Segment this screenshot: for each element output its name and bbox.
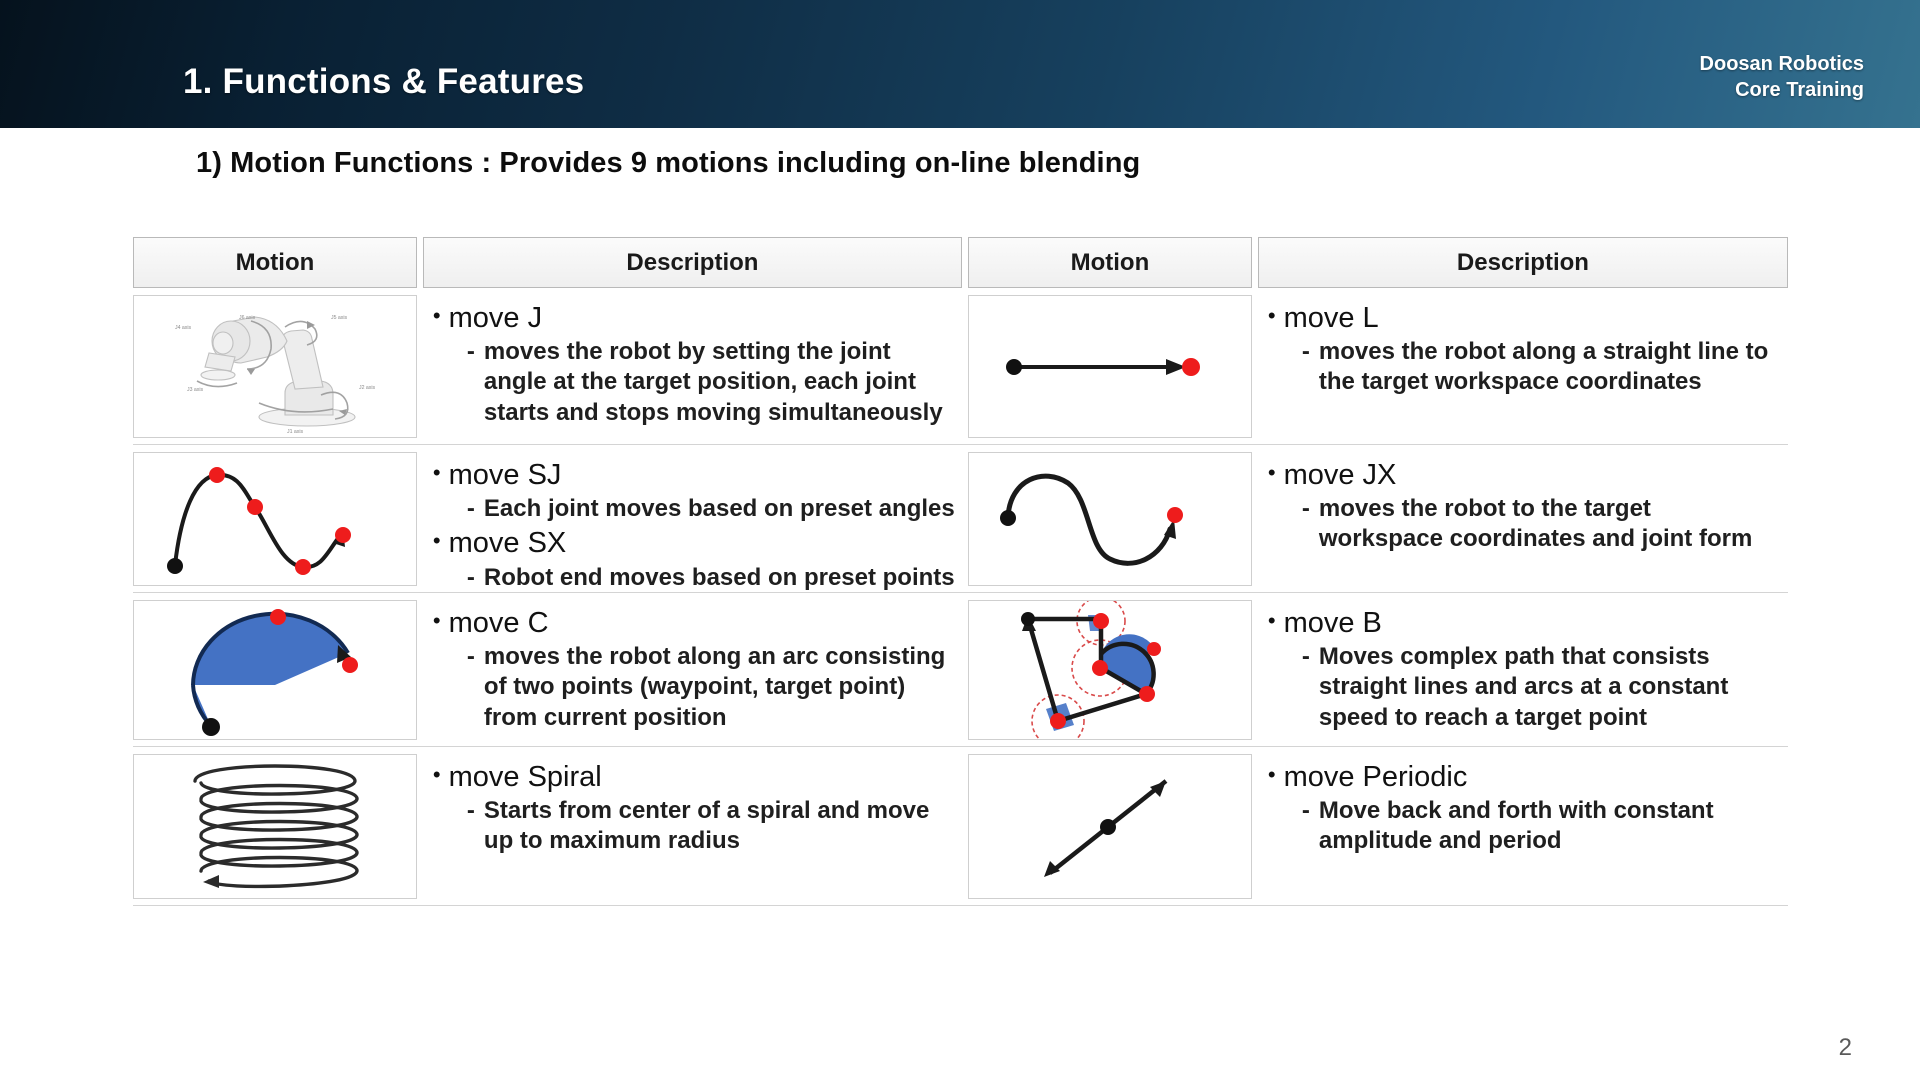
bullet-icon: • [1268, 606, 1276, 637]
slide: 1. Functions & Features Doosan Robotics … [0, 0, 1920, 1080]
motion-detail: - Each joint moves based on preset angle… [467, 494, 962, 524]
motion-title: • move Periodic [1268, 760, 1788, 794]
motion-name: move SJ [449, 458, 562, 492]
motion-detail: - Robot end moves based on preset points [467, 563, 962, 593]
motion-table: Motion Description Motion Description [133, 237, 1788, 906]
diagram-cell-arc [133, 600, 417, 740]
description-cell-move-spiral: • move Spiral - Starts from center of a … [423, 754, 962, 899]
bullet-icon: • [1268, 458, 1276, 489]
spline-waypoints-icon [135, 453, 415, 585]
robot-arm-joint-axes-icon: J5 axis J6 axis J4 axis J3 axis J2 axis … [135, 297, 415, 436]
motion-title: • move L [1268, 301, 1788, 335]
motion-detail: - Move back and forth with constant ampl… [1302, 796, 1788, 856]
bullet-icon: • [1268, 760, 1276, 791]
motion-name: move JX [1284, 458, 1397, 492]
description-cell-move-periodic: • move Periodic - Move back and forth wi… [1258, 754, 1788, 899]
brand-line-1: Doosan Robotics [1700, 52, 1864, 78]
dash-icon: - [1302, 337, 1310, 367]
diagram-cell-robot-arm: J5 axis J6 axis J4 axis J3 axis J2 axis … [133, 295, 417, 438]
motion-name: move B [1284, 606, 1382, 640]
straight-line-arrow-icon [970, 297, 1250, 436]
column-header-motion-2: Motion [968, 237, 1252, 288]
description-cell-move-j: • move J - moves the robot by setting th… [423, 295, 962, 438]
row-divider [133, 905, 1788, 906]
dash-icon: - [467, 337, 475, 367]
column-header-description-1: Description [423, 237, 962, 288]
bullet-icon: • [433, 301, 441, 332]
motion-name: move L [1284, 301, 1379, 335]
bullet-icon: • [433, 526, 441, 557]
row-divider [133, 444, 1788, 445]
motion-title: • move SX [433, 526, 962, 560]
table-row: • move Spiral - Starts from center of a … [133, 754, 1788, 899]
dash-icon: - [1302, 642, 1310, 672]
motion-name: move J [449, 301, 542, 335]
description-cell-move-l: • move L - moves the robot along a strai… [1258, 295, 1788, 438]
dash-icon: - [1302, 796, 1310, 826]
motion-title: • move SJ [433, 458, 962, 492]
description-cell-move-jx: • move JX - moves the robot to the targe… [1258, 452, 1788, 586]
dash-icon: - [1302, 494, 1310, 524]
diagram-cell-spiral [133, 754, 417, 899]
motion-detail: - Moves complex path that consists strai… [1302, 642, 1788, 733]
motion-detail: - moves the robot to the target workspac… [1302, 494, 1788, 554]
dash-icon: - [467, 642, 475, 672]
bullet-icon: • [1268, 301, 1276, 332]
description-cell-move-c: • move C - moves the robot along an arc … [423, 600, 962, 740]
motion-detail: - Starts from center of a spiral and mov… [467, 796, 962, 856]
section-subtitle: 1) Motion Functions : Provides 9 motions… [196, 147, 1140, 180]
diagram-cell-s-curve [968, 452, 1252, 586]
robot-label-j6: J6 axis [239, 315, 256, 321]
dash-icon: - [467, 563, 475, 593]
motion-title: • move J [433, 301, 962, 335]
dash-icon: - [467, 796, 475, 826]
page-number: 2 [1839, 1034, 1852, 1062]
robot-label-j1: J1 axis [287, 429, 304, 435]
bullet-icon: • [433, 760, 441, 791]
diagram-cell-periodic [968, 754, 1252, 899]
page-title: 1. Functions & Features [183, 62, 584, 102]
double-arrow-periodic-icon [970, 755, 1250, 898]
motion-name: move C [449, 606, 549, 640]
motion-name: move Periodic [1284, 760, 1468, 794]
motion-title: • move C [433, 606, 962, 640]
description-cell-move-b: • move B - Moves complex path that consi… [1258, 600, 1788, 740]
motion-detail: - moves the robot along a straight line … [1302, 337, 1788, 397]
table-row: • move C - moves the robot along an arc … [133, 600, 1788, 740]
table-row: J5 axis J6 axis J4 axis J3 axis J2 axis … [133, 295, 1788, 438]
bullet-icon: • [433, 606, 441, 637]
motion-detail: - moves the robot along an arc consistin… [467, 642, 962, 733]
description-cell-move-sj-sx: • move SJ - Each joint moves based on pr… [423, 452, 962, 586]
robot-label-j4: J4 axis [175, 325, 192, 331]
blend-path-icon [970, 601, 1250, 739]
column-header-motion-1: Motion [133, 237, 417, 288]
motion-name: move SX [449, 526, 567, 560]
motion-name: move Spiral [449, 760, 602, 794]
circular-arc-sector-icon [135, 601, 415, 739]
robot-label-j5: J5 axis [331, 315, 348, 321]
bullet-icon: • [433, 458, 441, 489]
table-header-row: Motion Description Motion Description [133, 237, 1788, 288]
slide-header: 1. Functions & Features Doosan Robotics … [0, 0, 1920, 128]
robot-label-j3: J3 axis [187, 387, 204, 393]
row-divider [133, 746, 1788, 747]
column-header-description-2: Description [1258, 237, 1788, 288]
s-curve-icon [970, 453, 1250, 585]
diagram-cell-blend-path [968, 600, 1252, 740]
motion-detail: - moves the robot by setting the joint a… [467, 337, 962, 428]
motion-title: • move JX [1268, 458, 1788, 492]
brand-line-2: Core Training [1700, 78, 1864, 104]
brand-block: Doosan Robotics Core Training [1700, 52, 1864, 103]
robot-label-j2: J2 axis [359, 385, 376, 391]
dash-icon: - [467, 494, 475, 524]
motion-title: • move Spiral [433, 760, 962, 794]
diagram-cell-straight-line [968, 295, 1252, 438]
motion-title: • move B [1268, 606, 1788, 640]
helical-spiral-icon [135, 755, 415, 898]
diagram-cell-spline [133, 452, 417, 586]
table-row: • move SJ - Each joint moves based on pr… [133, 452, 1788, 586]
